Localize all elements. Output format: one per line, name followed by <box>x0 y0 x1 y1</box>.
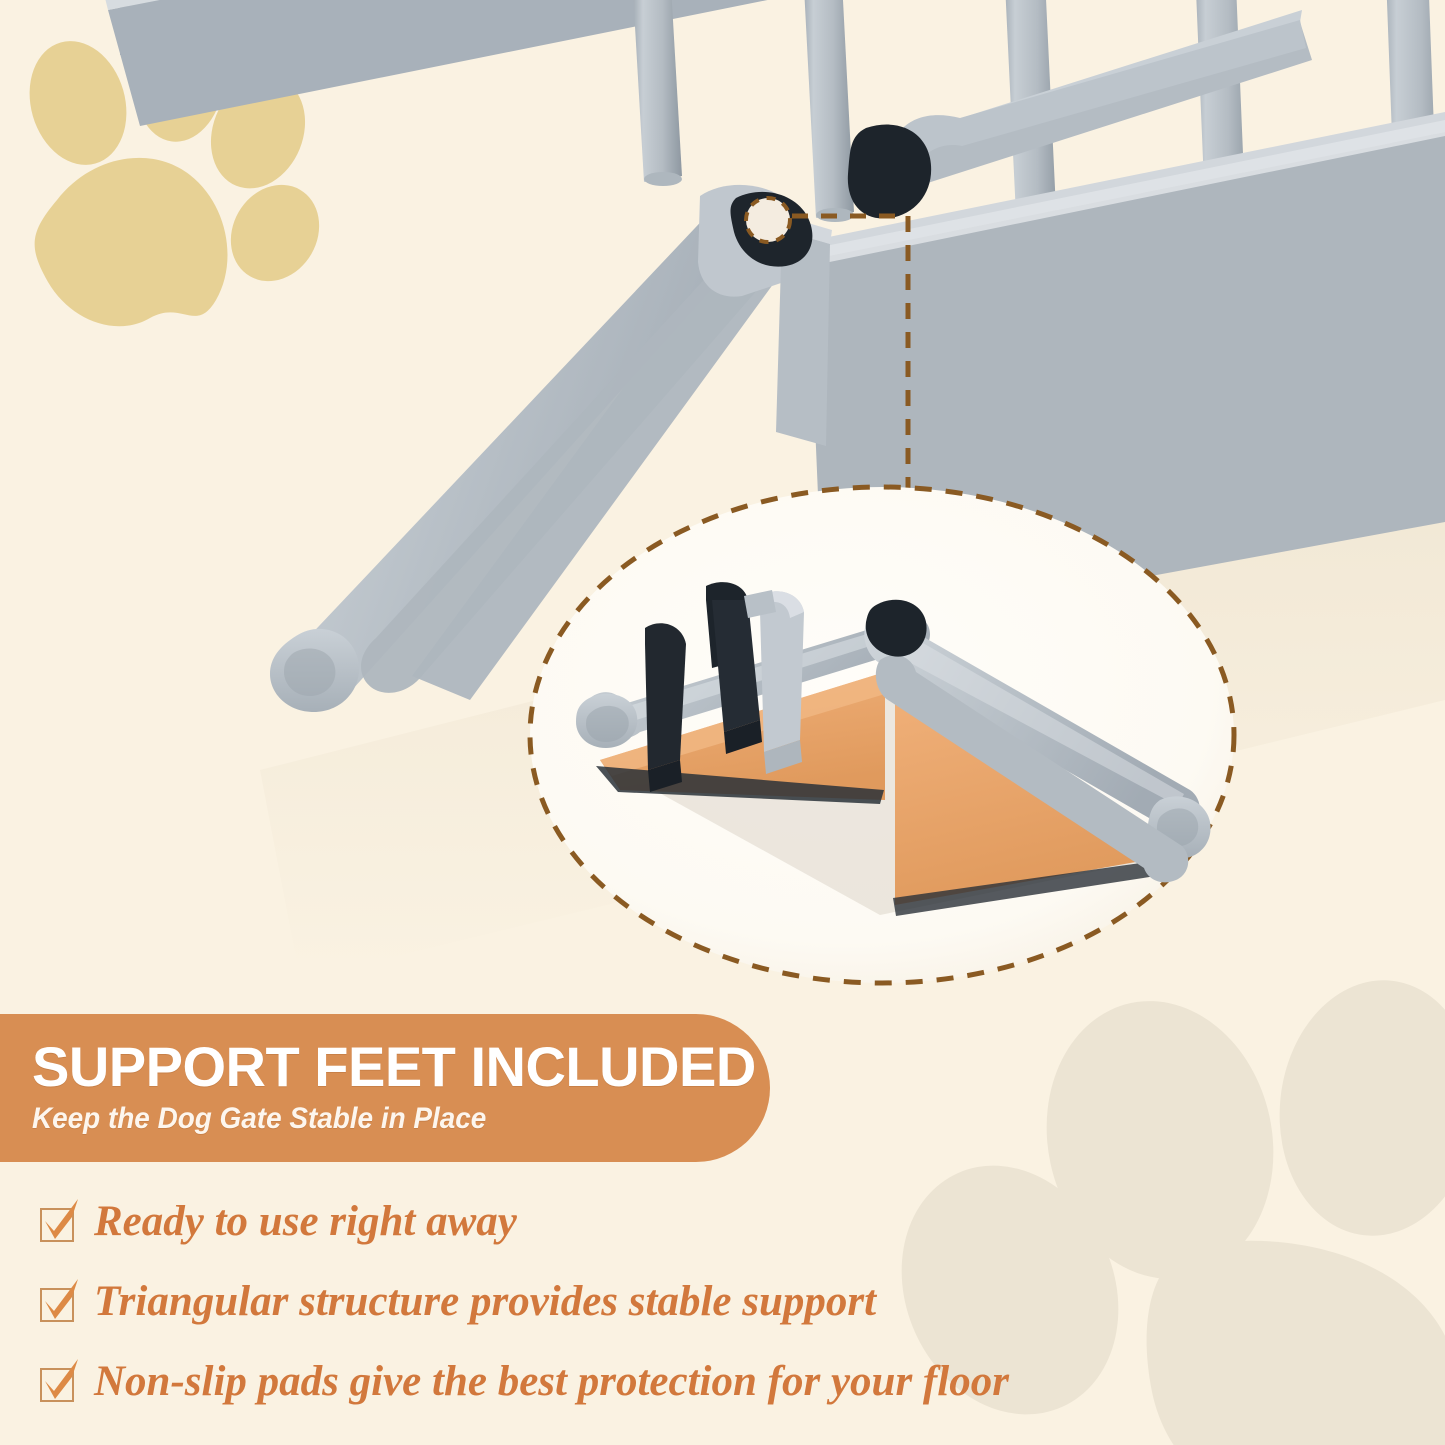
feature-list: Ready to use right away Triangular struc… <box>38 1188 1418 1428</box>
magnified-detail-callout <box>530 487 1234 983</box>
list-item: Non-slip pads give the best protection f… <box>38 1348 1418 1416</box>
list-item-label: Triangular structure provides stable sup… <box>94 1277 876 1327</box>
list-item-label: Non-slip pads give the best protection f… <box>94 1357 1009 1407</box>
banner-title: SUPPORT FEET INCLUDED <box>32 1036 770 1098</box>
infographic-canvas: SUPPORT FEET INCLUDED Keep the Dog Gate … <box>0 0 1445 1445</box>
headline-banner: SUPPORT FEET INCLUDED Keep the Dog Gate … <box>0 1014 770 1162</box>
list-item: Triangular structure provides stable sup… <box>38 1268 1418 1336</box>
checkbox-checked-icon <box>38 1202 78 1242</box>
list-item: Ready to use right away <box>38 1188 1418 1256</box>
checkbox-checked-icon <box>38 1362 78 1402</box>
list-item-label: Ready to use right away <box>94 1197 517 1247</box>
checkbox-checked-icon <box>38 1282 78 1322</box>
banner-subtitle: Keep the Dog Gate Stable in Place <box>32 1102 718 1136</box>
